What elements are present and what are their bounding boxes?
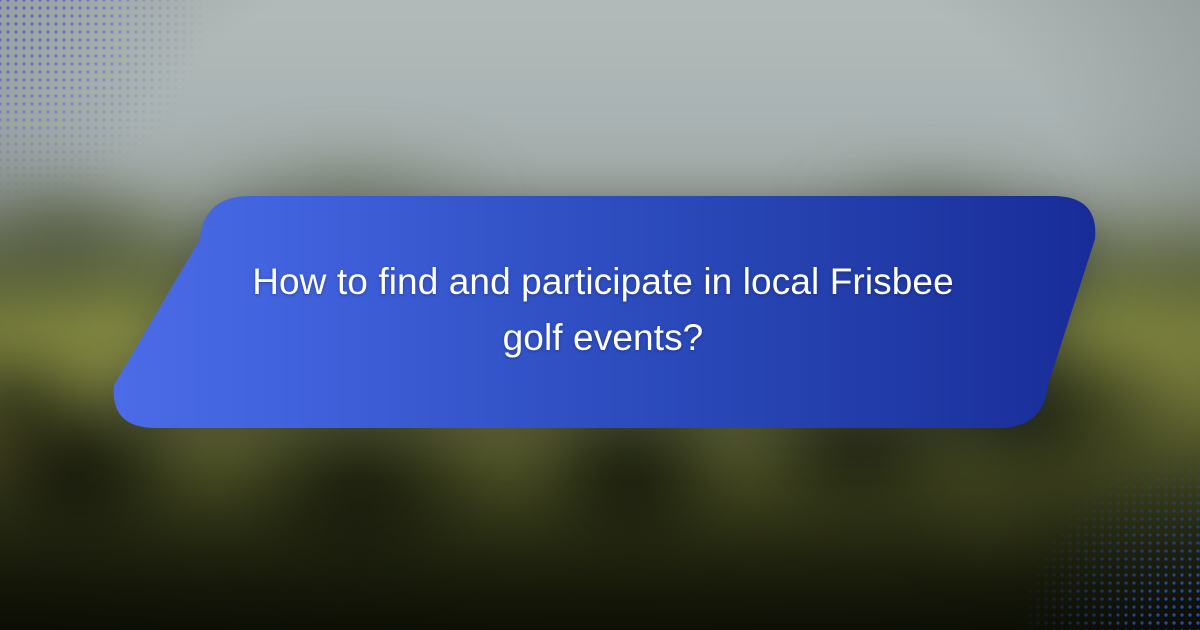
share-card-canvas: How to find and participate in local Fri… (0, 0, 1200, 630)
card-title-line-1: How to find and participate in local Fri… (252, 254, 954, 310)
headline-card: How to find and participate in local Fri… (104, 193, 1102, 431)
headline-text-block: How to find and participate in local Fri… (222, 193, 984, 431)
card-title-line-2: golf events? (503, 310, 704, 366)
